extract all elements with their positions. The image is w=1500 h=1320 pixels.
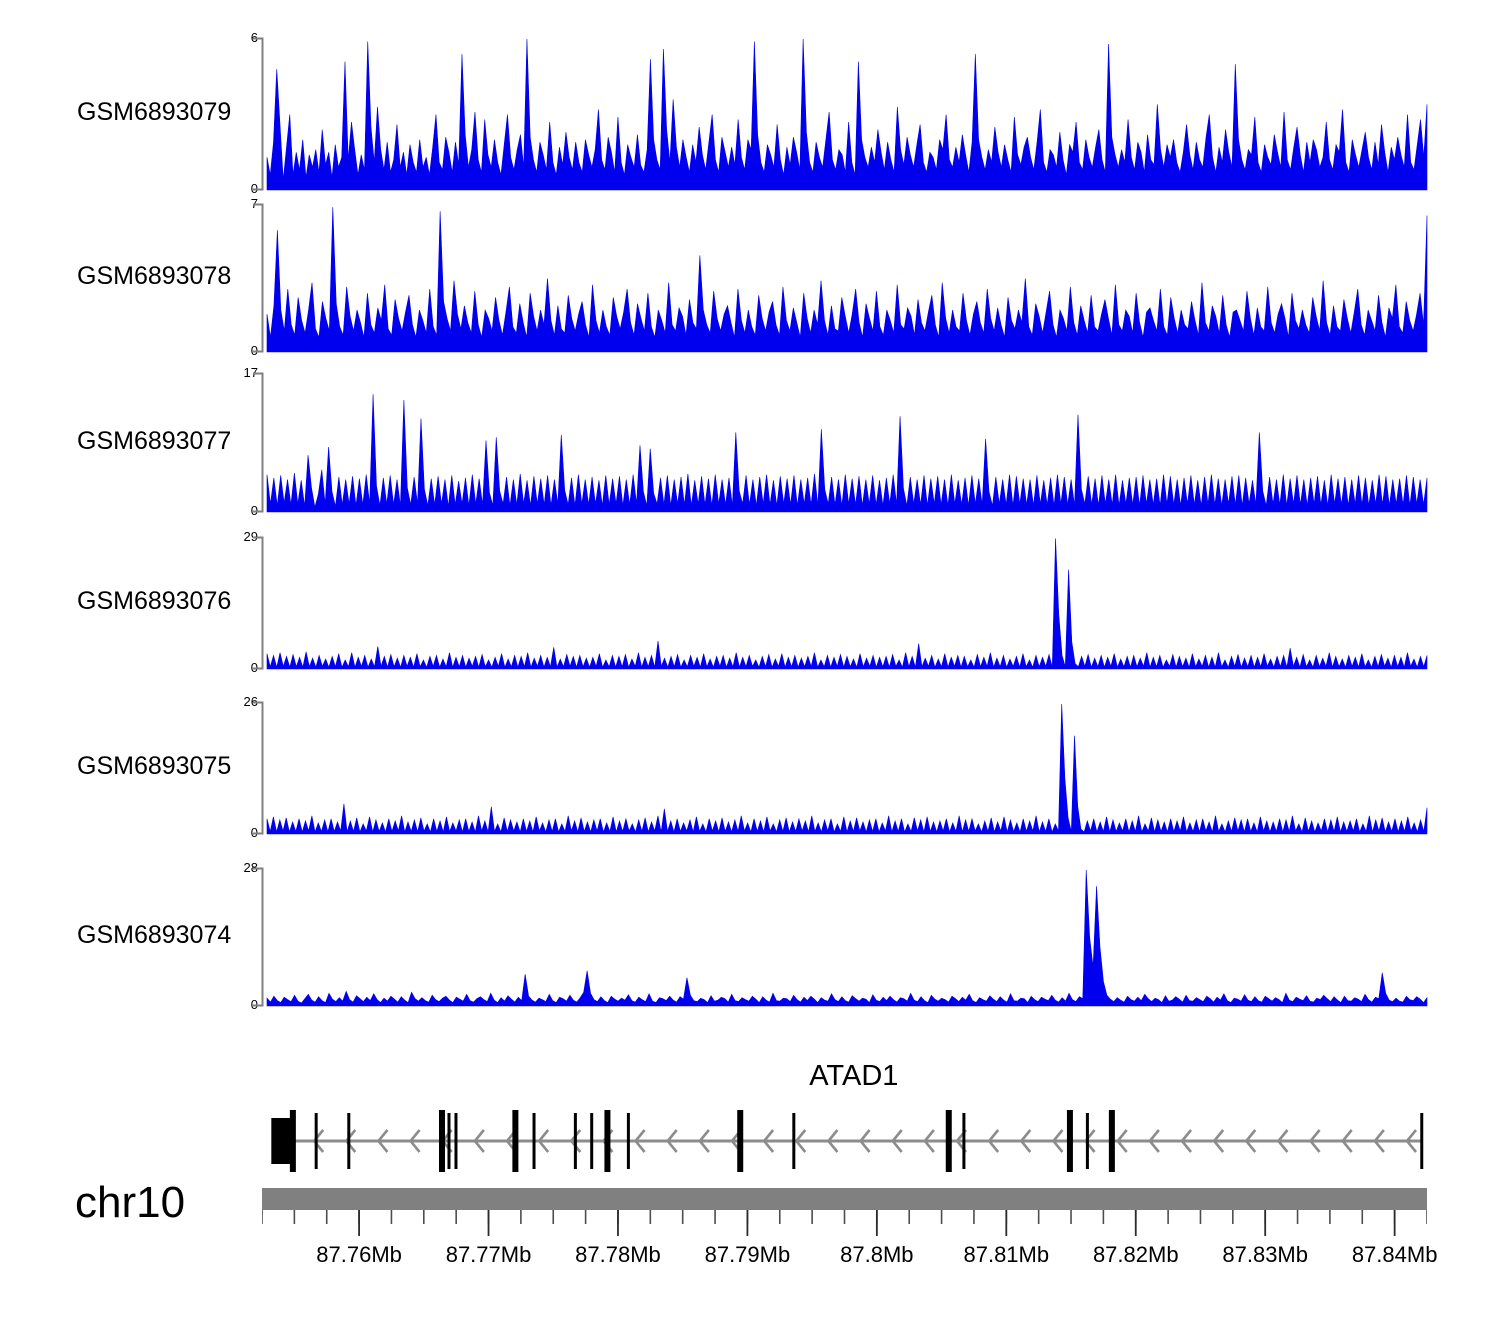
axis-tick-label: 87.79Mb — [705, 1242, 791, 1268]
gene-exon — [533, 1113, 536, 1169]
axis-min-value: 0 — [218, 660, 258, 675]
gene-annotation-track[interactable] — [262, 1105, 1427, 1177]
axis-max-value: 29 — [218, 529, 258, 544]
track-label: GSM6893075 — [77, 752, 231, 781]
genome-axis[interactable]: 87.76Mb87.77Mb87.78Mb87.79Mb87.8Mb87.81M… — [262, 1188, 1427, 1288]
axis-max-value: 26 — [218, 694, 258, 709]
gene-exon — [512, 1110, 518, 1172]
axis-tick-label: 87.77Mb — [446, 1242, 532, 1268]
gene-exon — [454, 1113, 457, 1169]
ideogram-bar[interactable] — [262, 1188, 1427, 1210]
gene-exon — [347, 1113, 350, 1169]
coverage-area — [267, 538, 1427, 669]
gene-exon — [1420, 1113, 1423, 1169]
gene-exon — [946, 1110, 952, 1172]
gene-exon — [315, 1113, 318, 1169]
gene-exon — [1086, 1113, 1089, 1169]
gene-exon — [1109, 1110, 1115, 1172]
gene-exon — [590, 1113, 593, 1169]
gene-exon — [447, 1113, 450, 1169]
gene-exon — [1067, 1110, 1073, 1172]
axis-tick-label: 87.78Mb — [575, 1242, 661, 1268]
gene-exon — [290, 1110, 296, 1172]
axis-max-value: 17 — [218, 365, 258, 380]
axis-tick-label: 87.81Mb — [963, 1242, 1049, 1268]
coverage-area — [267, 394, 1427, 512]
gene-exon — [439, 1110, 445, 1172]
track-gsm6893074: GSM6893074280 — [0, 868, 1500, 1006]
axis-tick-label: 87.82Mb — [1093, 1242, 1179, 1268]
axis-max-value: 28 — [218, 860, 258, 875]
track-label: GSM6893078 — [77, 262, 231, 291]
axis-tick-label: 87.76Mb — [316, 1242, 402, 1268]
axis-min-value: 0 — [218, 181, 258, 196]
axis-max-value: 7 — [218, 196, 258, 211]
track-gsm6893076: GSM6893076290 — [0, 537, 1500, 669]
axis-tick-label: 87.84Mb — [1352, 1242, 1438, 1268]
gene-utr-block — [271, 1118, 292, 1164]
coverage-plot[interactable] — [262, 537, 1427, 669]
coverage-plot[interactable] — [262, 38, 1427, 190]
coverage-plot[interactable] — [262, 373, 1427, 512]
track-label: GSM6893074 — [77, 921, 231, 950]
axis-tick-label: 87.83Mb — [1222, 1242, 1308, 1268]
axis-max-value: 6 — [218, 30, 258, 45]
track-label: GSM6893079 — [77, 98, 231, 127]
track-gsm6893077: GSM6893077170 — [0, 373, 1500, 512]
coverage-plot[interactable] — [262, 868, 1427, 1006]
coverage-area — [267, 39, 1427, 190]
coverage-plot[interactable] — [262, 702, 1427, 834]
axis-tick-label: 87.8Mb — [840, 1242, 913, 1268]
gene-exon — [737, 1110, 743, 1172]
chromosome-label: chr10 — [75, 1178, 185, 1228]
coverage-area — [267, 704, 1427, 834]
track-gsm6893079: GSM689307960 — [0, 38, 1500, 190]
genome-browser: GSM689307960GSM689307870GSM6893077170GSM… — [0, 0, 1500, 1320]
coverage-area — [267, 870, 1427, 1006]
track-label: GSM6893076 — [77, 587, 231, 616]
track-gsm6893078: GSM689307870 — [0, 204, 1500, 352]
gene-exon — [627, 1113, 630, 1169]
axis-min-value: 0 — [218, 343, 258, 358]
axis-min-value: 0 — [218, 825, 258, 840]
gene-exon — [574, 1113, 577, 1169]
track-label: GSM6893077 — [77, 427, 231, 456]
coverage-plot[interactable] — [262, 204, 1427, 352]
track-gsm6893075: GSM6893075260 — [0, 702, 1500, 834]
axis-min-value: 0 — [218, 997, 258, 1012]
gene-exon — [792, 1113, 795, 1169]
gene-exon — [962, 1113, 965, 1169]
gene-label-atad1: ATAD1 — [744, 1060, 964, 1093]
axis-min-value: 0 — [218, 503, 258, 518]
gene-exon — [604, 1110, 610, 1172]
coverage-area — [267, 207, 1427, 352]
